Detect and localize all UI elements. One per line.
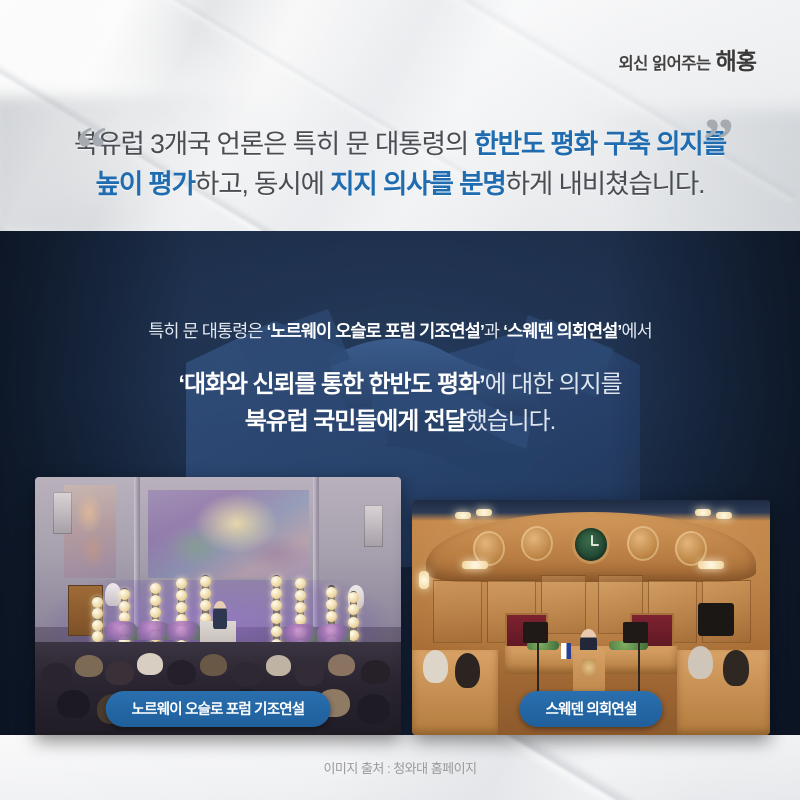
riksdag-spotlight: [695, 509, 711, 516]
subtitle1-plain-2: 과: [484, 321, 503, 341]
riksdag-monitor: [523, 622, 548, 643]
riksdag-medallion: [627, 526, 659, 561]
brand-lead-text: 외신 읽어주는: [619, 50, 711, 74]
riksdag-wall-clock: [575, 528, 607, 561]
quote-line2-highlight-2: 지지 의사를 분명: [330, 169, 506, 199]
quote-line1-highlight: 한반도 평화 구축 의지를: [474, 129, 726, 159]
oslo-speaker-person: [213, 601, 228, 629]
quote-line-2: 높이 평가하고, 동시에 지지 의사를 분명하게 내비쳤습니다.: [0, 164, 800, 204]
riksdag-spotlight: [455, 512, 471, 519]
headline-quote: “ ” 북유럽 3개국 언론은 특히 문 대통령의 한반도 평화 구축 의지를 …: [0, 124, 800, 205]
subtitle2-bold-2: 북유럽 국민들에게 전달: [245, 408, 466, 435]
oslo-flower-arrangement: [105, 621, 138, 639]
riksdag-attendee: [688, 646, 713, 679]
subtitle-line-2: ‘대화와 신뢰를 통한 한반도 평화’에 대한 의지를 북유럽 국민들에게 전달…: [0, 367, 800, 441]
card-news-image: 외신 읽어주는 해홍 “ ” 북유럽 3개국 언론은 특히 문 대통령의 한반도…: [0, 0, 800, 800]
subtitle1-bold-1: ‘노르웨이 오슬로 포럼 기조연설’: [267, 321, 484, 341]
oslo-flower-arrangement: [167, 621, 200, 639]
quote-line2-plain-2: 하게 내비쳤습니다.: [506, 169, 705, 199]
quote-line-1: 북유럽 3개국 언론은 특히 문 대통령의 한반도 평화 구축 의지를: [0, 124, 800, 164]
subtitle1-bold-2: ‘스웨덴 의회연설’: [503, 321, 621, 341]
oslo-flower-arrangement: [284, 624, 317, 642]
subtitle2-plain-2: 했습니다.: [466, 408, 556, 435]
riksdag-korean-flag: [561, 643, 571, 659]
subtitle2-plain-1: 에 대한 의지를: [485, 371, 622, 398]
subtitle2-row-2: 북유럽 국민들에게 전달했습니다.: [0, 404, 800, 441]
subtitle2-row-1: ‘대화와 신뢰를 통한 한반도 평화’에 대한 의지를: [0, 367, 800, 404]
subtitle1-plain-3: 에서: [621, 321, 651, 341]
riksdag-attendee: [455, 653, 480, 688]
brand-logo: 외신 읽어주는 해홍: [619, 42, 757, 76]
subtitle1-plain-1: 특히 문 대통령은: [148, 321, 266, 341]
oslo-lamp-column: [273, 575, 280, 647]
brand-name-text: 해홍: [716, 42, 756, 76]
quote-line2-plain-1: 하고, 동시에: [195, 169, 330, 199]
riksdag-wall-lamp: [462, 561, 488, 569]
quote-open-icon: “: [76, 118, 107, 180]
riksdag-tv-camera: [698, 603, 734, 636]
oslo-speaker-box: [364, 505, 382, 546]
oslo-speaker-box: [53, 492, 71, 533]
quote-line2-highlight-1: 높이 평가: [96, 169, 195, 199]
quote-close-icon: ”: [703, 110, 734, 172]
riksdag-attendee: [723, 650, 748, 685]
quote-line1-plain: 북유럽 3개국 언론은 특히 문 대통령의: [74, 129, 474, 159]
riksdag-spotlight: [716, 512, 732, 519]
riksdag-spotlight: [476, 509, 492, 516]
subtitle2-bold-1: ‘대화와 신뢰를 통한 한반도 평화’: [178, 371, 484, 398]
oslo-mural-left: [64, 485, 115, 578]
oslo-flower-arrangement: [317, 624, 350, 642]
riksdag-wall-lamp: [419, 571, 429, 589]
subtitle-line-1: 특히 문 대통령은 ‘노르웨이 오슬로 포럼 기조연설’과 ‘스웨덴 의회연설’…: [0, 318, 800, 343]
oslo-mural-main: [148, 490, 309, 578]
riksdag-attendee: [423, 650, 448, 683]
photo-swedish-parliament[interactable]: 스웨덴 의회연설: [412, 500, 770, 735]
riksdag-wall-lamp: [698, 561, 724, 569]
photo-oslo-forum[interactable]: 노르웨이 오슬로 포럼 기조연설: [35, 477, 401, 735]
image-source-credit: 이미지 출처 : 청와대 홈페이지: [0, 758, 800, 777]
riksdag-wall-panel: [433, 580, 482, 643]
photo-caption-riksdag: 스웨덴 의회연설: [519, 691, 662, 727]
photo-caption-oslo: 노르웨이 오슬로 포럼 기조연설: [106, 691, 331, 727]
oslo-flower-arrangement: [137, 621, 170, 639]
riksdag-monitor: [623, 622, 648, 643]
